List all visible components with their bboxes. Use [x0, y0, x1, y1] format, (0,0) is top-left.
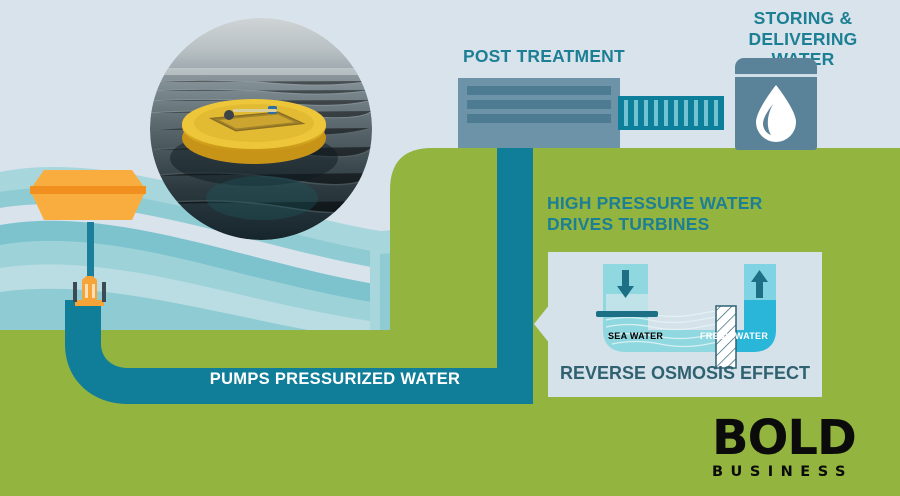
- pipe-rib: [704, 100, 708, 126]
- pump-cap: [85, 276, 94, 281]
- pipe-rib: [694, 100, 698, 126]
- pump-slot-1: [85, 284, 88, 298]
- ribbed-connector-pipe: [618, 96, 724, 130]
- buoy-waterline-band: [30, 186, 146, 194]
- pipe-rib: [664, 100, 668, 126]
- photo-deck-fitting-1: [224, 110, 234, 120]
- seabed-pump: [62, 276, 118, 326]
- post-treatment-plant: [458, 78, 620, 148]
- plant-slat-3: [467, 114, 611, 123]
- pump-slot-2: [92, 284, 95, 298]
- sea-water-label: SEA WATER: [608, 331, 663, 341]
- piston-plate: [596, 311, 658, 317]
- wave-energy-buoy-illustration: [30, 168, 146, 222]
- piston-shaft: [606, 294, 648, 312]
- pipe-rib: [644, 100, 648, 126]
- plant-riser-pipe: [497, 140, 533, 382]
- pump-leg-right: [102, 282, 106, 302]
- pipe-rib: [624, 100, 628, 126]
- pipe-rib: [684, 100, 688, 126]
- buoy-tether: [87, 222, 94, 284]
- water-storage-tank: [735, 58, 817, 150]
- pipe-rib: [674, 100, 678, 126]
- infographic-canvas: POST TREATMENT STORING & DELIVERING WATE…: [0, 0, 900, 496]
- logo-secondary-text: BUSINESS: [712, 464, 878, 480]
- pipe-rib: [714, 100, 718, 126]
- water-drop-icon: [754, 84, 798, 142]
- pipe-rib: [634, 100, 638, 126]
- photo-deck-rail: [233, 109, 277, 112]
- plant-slat-1: [467, 86, 611, 95]
- pipe-rib: [654, 100, 658, 126]
- pump-leg-left: [73, 282, 77, 302]
- pump-collar: [75, 300, 104, 306]
- tank-band: [735, 74, 817, 77]
- pumps-pressurized-water-label: PUMPS PRESSURIZED WATER: [150, 370, 520, 389]
- reverse-osmosis-caption: REVERSE OSMOSIS EFFECT: [556, 363, 814, 384]
- buoy-photograph: [150, 18, 372, 240]
- bold-business-logo: BOLD BUSINESS: [712, 414, 878, 480]
- post-treatment-title: POST TREATMENT: [463, 46, 625, 67]
- plant-slat-2: [467, 100, 611, 109]
- fresh-water-label: FRESH WATER: [700, 331, 768, 341]
- reverse-osmosis-diagram: [548, 252, 822, 370]
- logo-primary-text: BOLD: [712, 414, 878, 462]
- high-pressure-title: HIGH PRESSURE WATER DRIVES TURBINES: [547, 193, 762, 234]
- buoy-hull: [30, 170, 146, 220]
